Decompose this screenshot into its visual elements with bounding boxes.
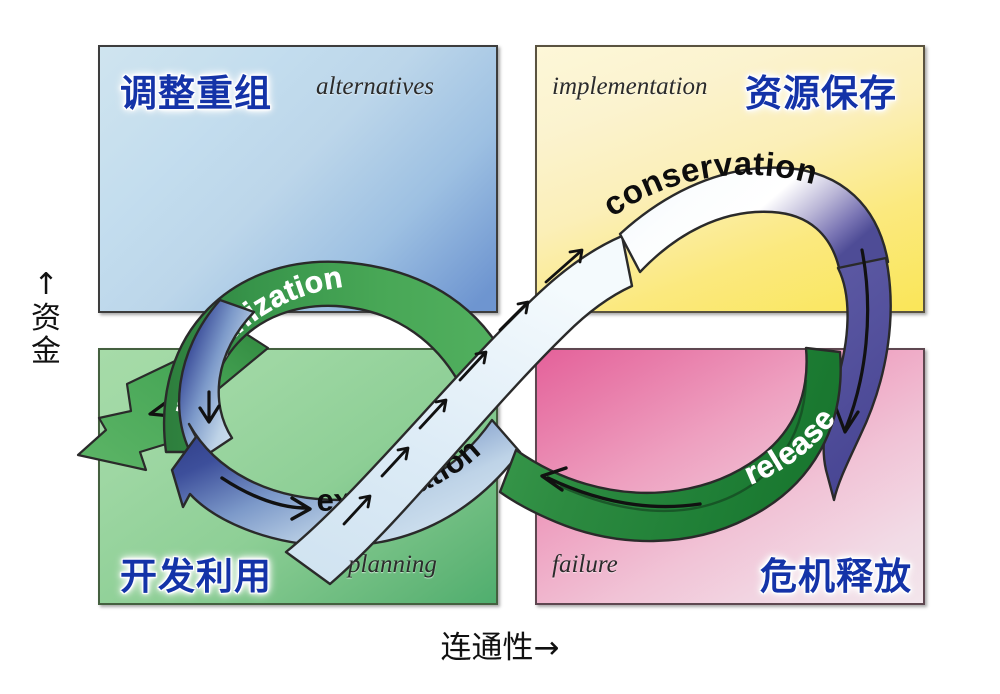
y-axis-label: ↑ 资 金 [18,268,74,369]
quadrant-label-reorganization: 调整重组 [120,63,272,117]
quadrant-label-conservation: 资源保存 [745,63,897,117]
diagram-canvas: reorganization exploitation [0,0,1000,694]
y-axis-char-1: 资 [18,302,74,336]
quadrant-label-release: 危机释放 [760,546,912,600]
quadrant-label-exploitation: 开发利用 [120,546,272,600]
y-axis-arrow: ↑ [18,268,74,302]
ribbon-conservation: conservation [596,145,888,272]
keyword-planning: planning [348,551,437,579]
ribbon-release: release [500,348,842,541]
keyword-implementation: implementation [552,73,708,101]
y-axis-char-2: 金 [18,335,74,369]
x-axis-label: 连通性→ [0,622,1000,667]
keyword-failure: failure [552,551,618,579]
keyword-alternatives: alternatives [316,73,434,101]
